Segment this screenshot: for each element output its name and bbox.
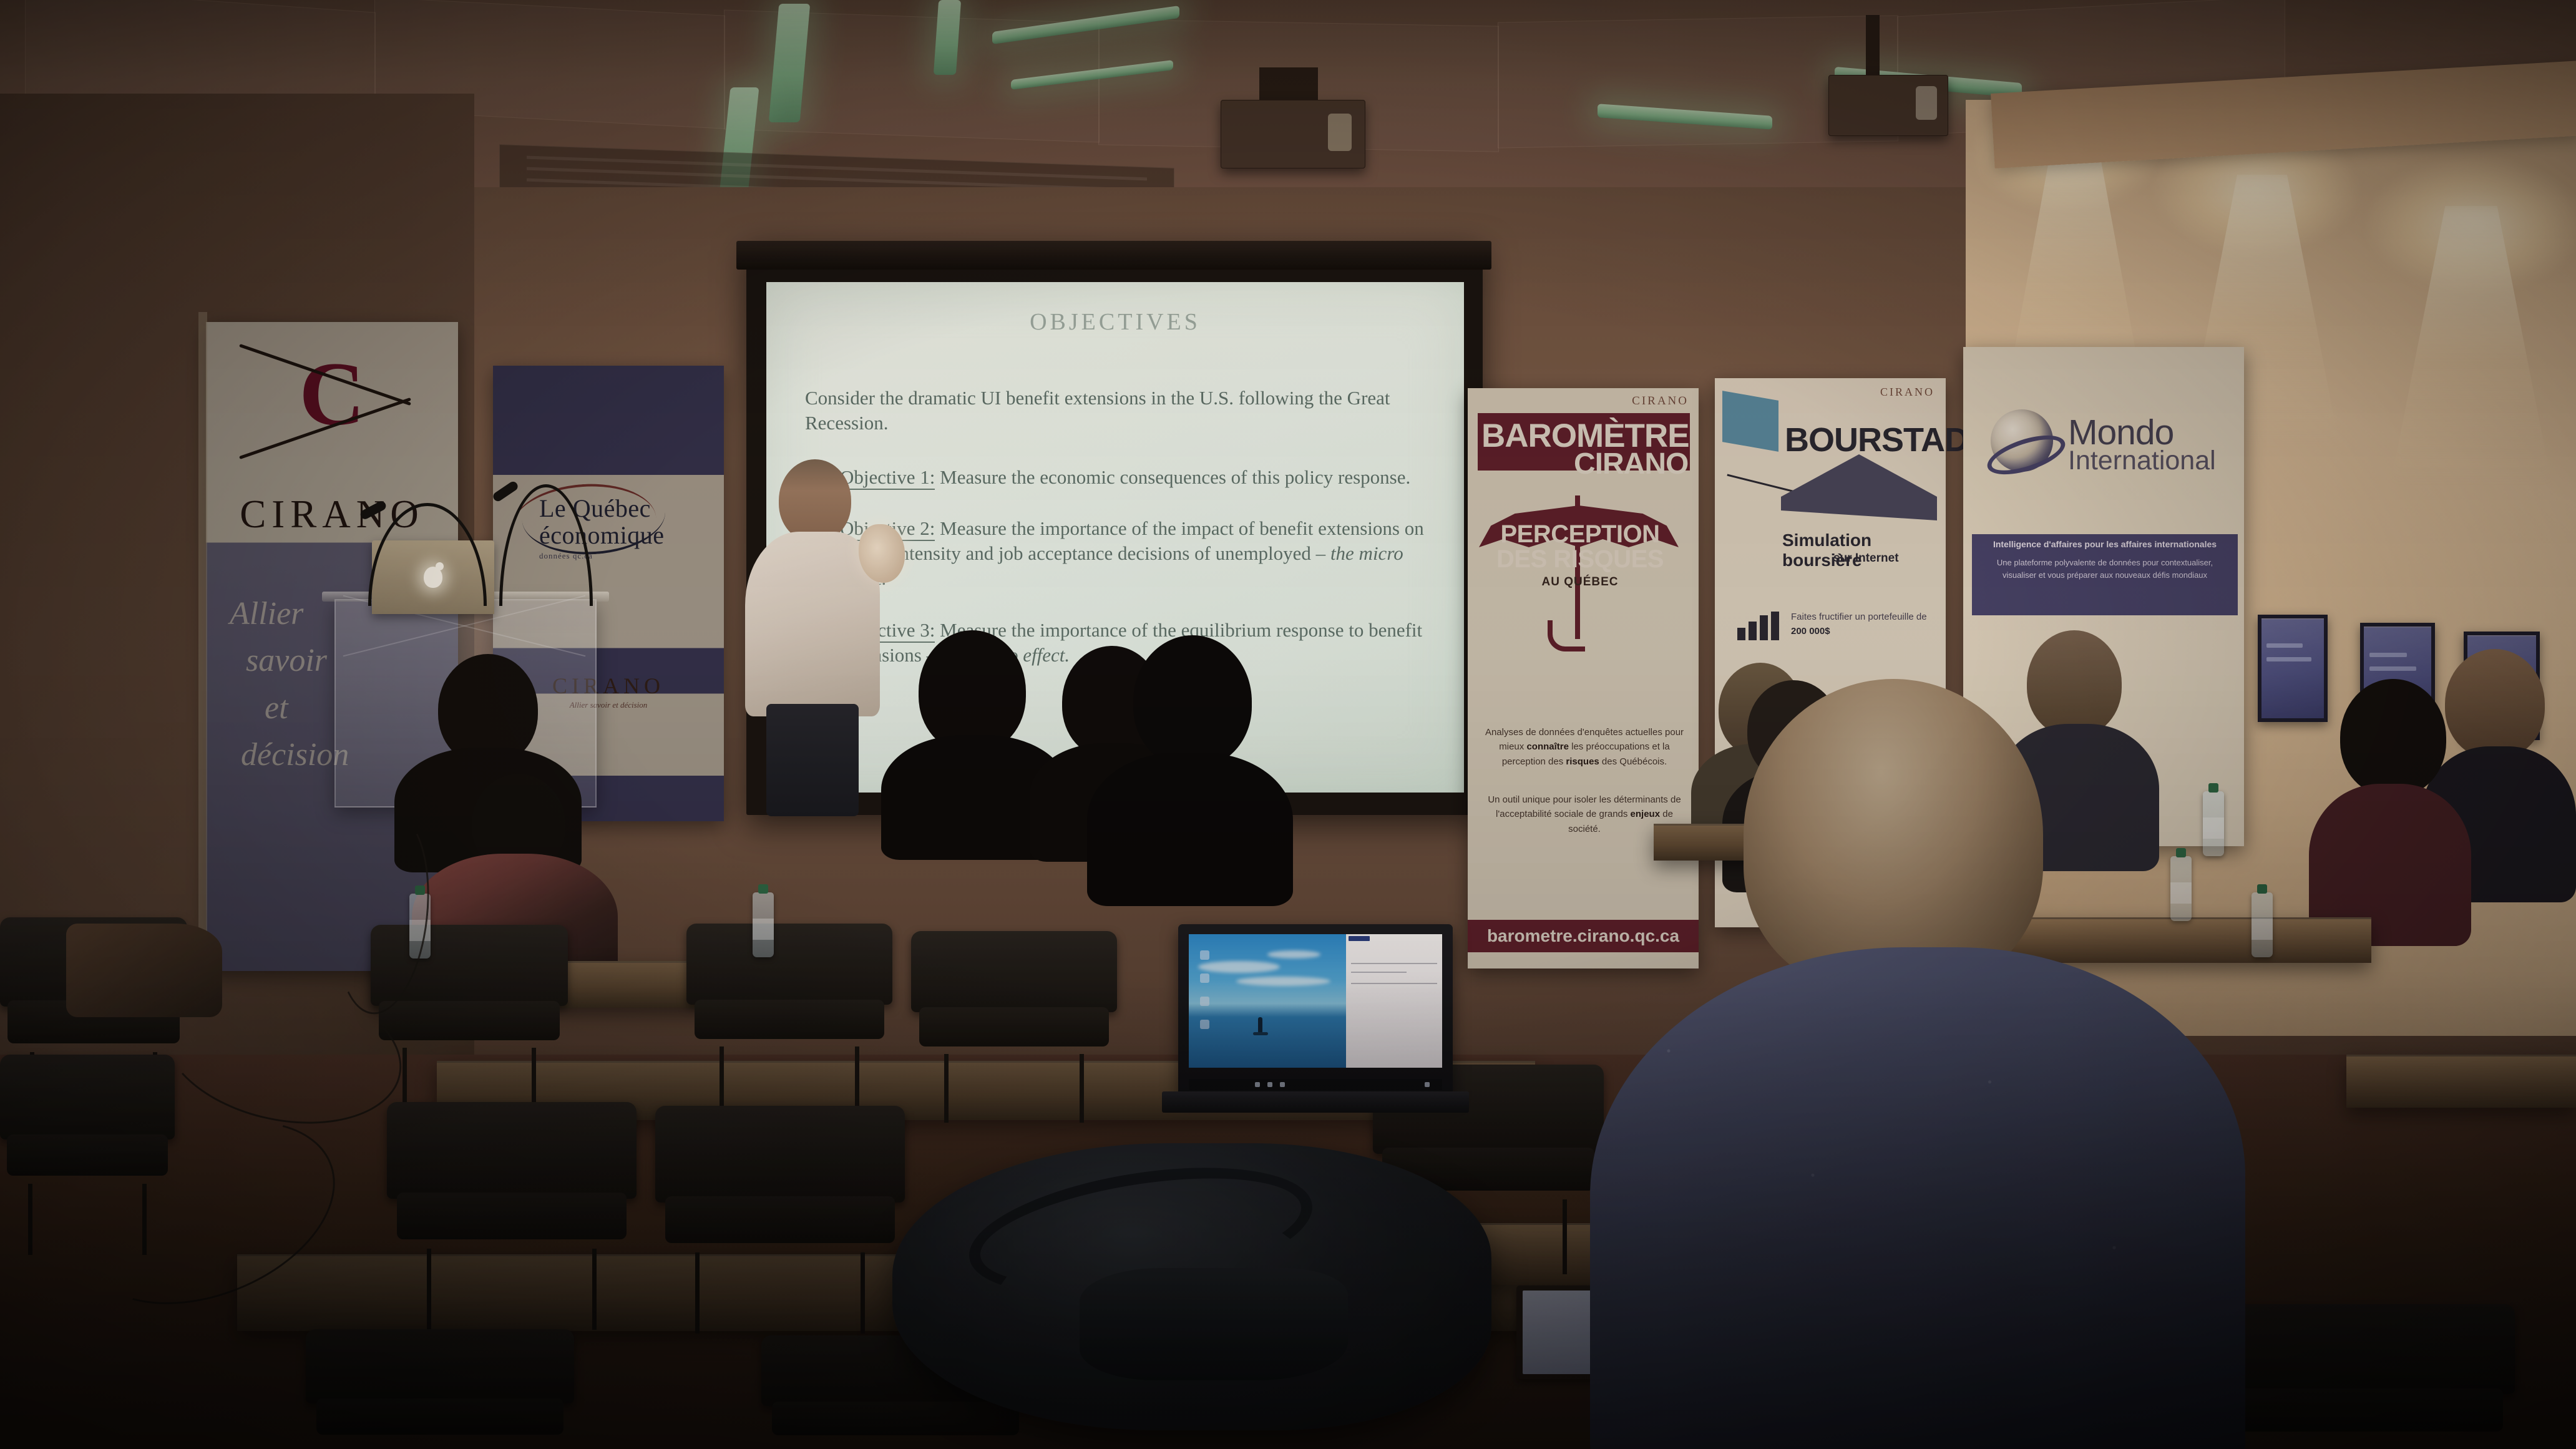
mondo-band-title: Intelligence d'affaires pour les affaire…	[1977, 539, 2233, 549]
conference-room-photo: OBJECTIVES Consider the dramatic UI bene…	[0, 0, 2576, 1449]
wallpaper-figure	[1258, 1017, 1262, 1033]
chair	[2222, 1304, 2515, 1449]
barometre-corner-brand: CIRANO	[1632, 394, 1689, 408]
barometre-umbrella-line-1: PERCEPTION	[1480, 520, 1680, 549]
barometre-body-1-bold-1: connaître	[1526, 741, 1569, 752]
chair	[686, 924, 892, 1055]
barometre-umbrella-line-3: AU QUÉBEC	[1480, 575, 1680, 589]
display-uplight	[2259, 615, 2326, 618]
laptop-screen[interactable]	[1189, 934, 1442, 1068]
slide-objective-1: Objective 1: Measure the economic conseq…	[805, 465, 1430, 490]
bar-chart-icon	[1737, 612, 1781, 640]
chair	[655, 1106, 905, 1262]
document-window[interactable]	[1346, 934, 1442, 1068]
window-titlebar	[1349, 936, 1370, 941]
bourstad-feature-amount: 200 000$	[1791, 626, 1830, 637]
umbrella-hook-icon	[1548, 620, 1585, 651]
foreground-attendee-shirt	[1590, 947, 2245, 1449]
barometre-title-line-2: CIRANO	[1574, 447, 1688, 481]
foreground-attendee-head	[1744, 679, 2043, 991]
display-uplight	[2361, 623, 2434, 627]
table	[2346, 1055, 2576, 1108]
slide-intro: Consider the dramatic UI benefit extensi…	[805, 386, 1430, 436]
bourstad-pyramid-base-icon	[1781, 497, 1937, 520]
chair	[911, 931, 1117, 1062]
bourstad-blue-shape	[1722, 391, 1778, 452]
taskbar-app-icon[interactable]	[1267, 1082, 1272, 1087]
mondo-band-body: Une plateforme polyvalente de données po…	[1982, 557, 2228, 582]
app-icon[interactable]	[1200, 1020, 1209, 1029]
mondo-line-2: International	[2068, 446, 2216, 476]
app-icon[interactable]	[1200, 997, 1209, 1006]
bourstad-feature-pre: Faites fructifier un portefeuille de	[1791, 612, 1927, 622]
projector-lens	[1328, 114, 1352, 151]
chair	[387, 1102, 637, 1258]
taskbar-app-icon[interactable]	[1280, 1082, 1285, 1087]
banner-pole	[198, 312, 207, 998]
projection-screen-casing	[736, 241, 1491, 270]
bourstad-subtitle-2: sur Internet	[1833, 552, 1899, 565]
water-bottle	[2252, 892, 2273, 957]
desktop-wallpaper	[1189, 934, 1346, 1068]
display-uplight	[2465, 632, 2539, 635]
app-icon[interactable]	[1200, 973, 1209, 983]
bag-pocket	[1080, 1268, 1348, 1380]
globe-icon	[1991, 409, 2053, 472]
audience-member	[2309, 679, 2471, 941]
taskbar-icon-column[interactable]	[1200, 950, 1210, 1043]
ceiling-projector-secondary	[1828, 75, 1947, 135]
water-bottle	[753, 892, 774, 957]
taskbar-start-icon[interactable]	[1255, 1082, 1260, 1087]
dell-laptop[interactable]: DELL	[1178, 924, 1453, 1118]
ceiling-projector	[1221, 100, 1364, 167]
barometre-umbrella-line-2: DES RISQUES	[1480, 545, 1680, 573]
taskbar-tray-icon[interactable]	[1425, 1082, 1430, 1087]
backpack-on-table	[892, 1143, 1491, 1430]
presenter-head	[779, 459, 851, 542]
objective-1-text: Measure the economic consequences of thi…	[935, 466, 1410, 488]
presenter	[740, 459, 890, 815]
app-icon[interactable]	[1200, 950, 1209, 960]
bourstad-title: BOURSTAD	[1785, 421, 1968, 459]
chair	[306, 1329, 574, 1449]
bourstad-feature-text: Faites fructifier un portefeuille de 200…	[1791, 610, 1937, 638]
bourstad-corner-brand: CIRANO	[1880, 386, 1934, 399]
presenter-trousers	[766, 704, 859, 816]
bourstad-pyramid-icon	[1781, 454, 1937, 497]
foreground-attendee	[1590, 679, 2245, 1449]
slide-title: OBJECTIVES	[766, 308, 1464, 336]
windows-taskbar[interactable]	[1189, 1079, 1442, 1090]
audience-member	[1087, 635, 1293, 904]
laptop-base	[1162, 1091, 1469, 1113]
